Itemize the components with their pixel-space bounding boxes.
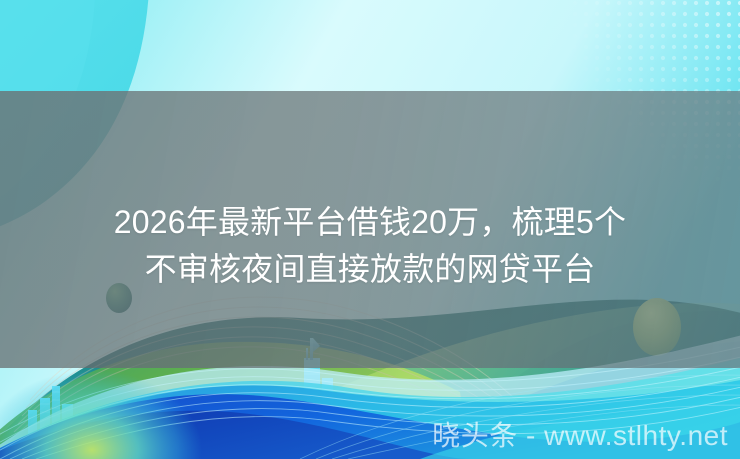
cover-title: 2026年最新平台借钱20万，梳理5个 不审核夜间直接放款的网贷平台 — [0, 199, 740, 293]
article-cover-image: 2026年最新平台借钱20万，梳理5个 不审核夜间直接放款的网贷平台 晓头条 -… — [0, 0, 740, 459]
